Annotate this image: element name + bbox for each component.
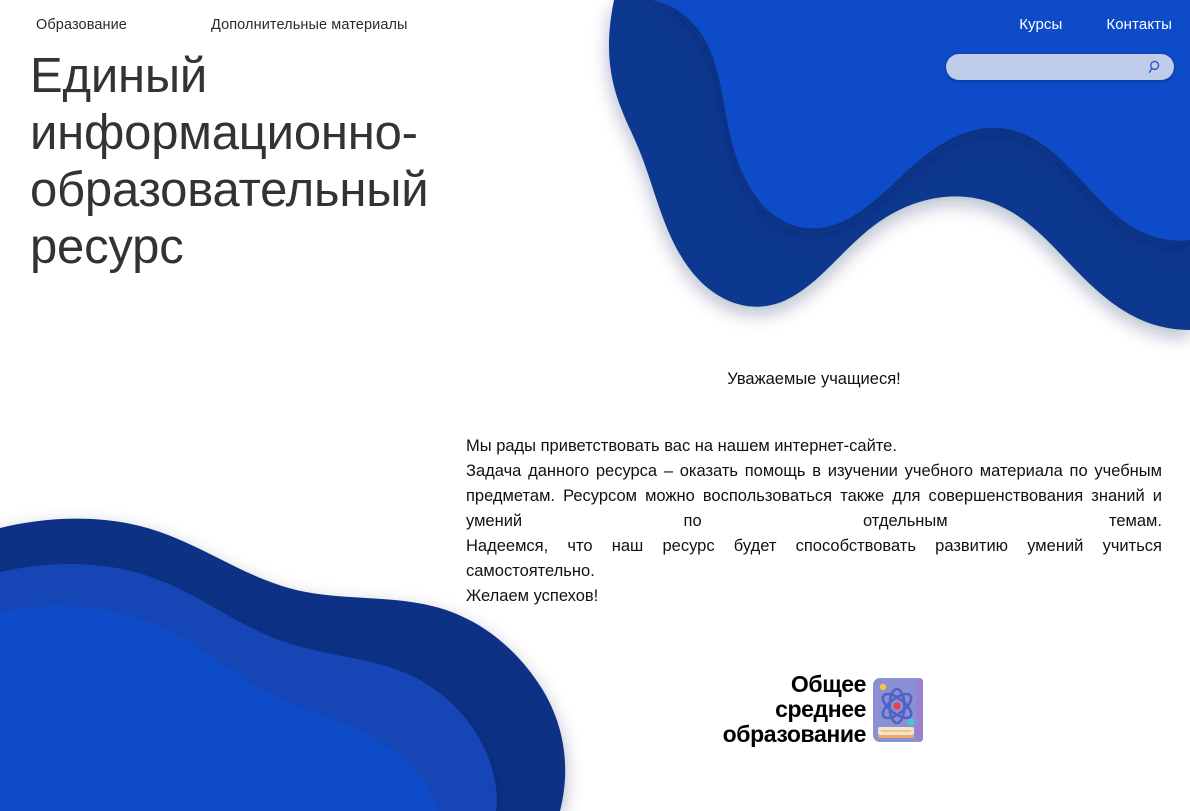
logo-line-2: среднее [723,697,866,722]
nav-obrazovanie[interactable]: Образование [36,16,127,34]
site-logo[interactable]: Общее среднее образование [664,672,924,747]
search-input[interactable] [946,55,1174,79]
atom-book-icon [872,677,924,743]
paragraph-line-1: Мы рады приветствовать вас на нашем инте… [466,434,1162,459]
paragraph-line-4: Желаем успехов! [466,584,1162,609]
nav-kursy[interactable]: Курсы [1019,15,1062,34]
nav-right-group: Курсы Контакты [1019,15,1172,34]
logo-line-1: Общее [723,672,866,697]
nav-dopolnitelnye-materialy[interactable]: Дополнительные материалы [211,16,408,34]
welcome-paragraph: Мы рады приветствовать вас на нашем инте… [466,434,1162,609]
search-container [946,54,1174,80]
logo-text: Общее среднее образование [723,672,866,747]
search-box[interactable] [946,54,1174,80]
wave-bottom-mid [0,564,497,811]
paragraph-line-3: Надеемся, что наш ресурс будет способств… [466,534,1162,584]
search-icon[interactable] [1148,60,1163,75]
greeting-text: Уважаемые учащиеся! [466,368,1162,390]
logo-line-3: образование [723,722,866,747]
paragraph-line-2: Задача данного ресурса – оказать помощь … [466,459,1162,534]
landing-page: Образование Дополнительные материалы Кур… [0,0,1190,811]
main-content: Уважаемые учащиеся! Мы рады приветствова… [466,368,1162,609]
wave-bottom-bright [0,606,438,811]
nav-kontakty[interactable]: Контакты [1106,15,1172,34]
top-navigation: Образование Дополнительные материалы Кур… [0,0,1190,96]
nav-left-group: Образование Дополнительные материалы [36,16,408,34]
